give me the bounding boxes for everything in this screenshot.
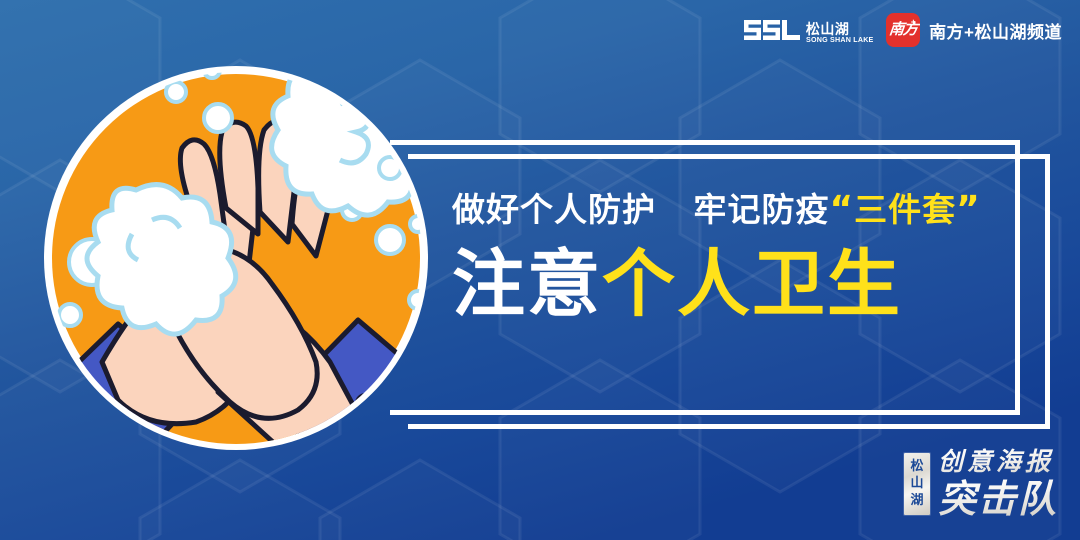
- nanfang-logo: 南方 + 南方+松山湖频道: [886, 13, 1062, 47]
- headline-1-part-a: 做好个人防护: [452, 190, 656, 229]
- stamp-vertical-label: 松 山 湖: [904, 453, 930, 515]
- ssl-logo-en: SONG SHAN LAKE: [806, 37, 874, 45]
- nanfang-app-icon: 南方 +: [886, 13, 920, 47]
- headline-1-gap: [656, 190, 693, 229]
- headline-1-highlight: 三件套: [854, 190, 956, 229]
- frame-outer-top: [408, 154, 1050, 159]
- stamp-words: 创意海报 突击队: [938, 448, 1058, 520]
- songshanlake-logo: 松山湖 SONG SHAN LAKE: [742, 14, 872, 46]
- ssl-monogram-icon: [742, 14, 800, 46]
- campaign-stamp: 松 山 湖 创意海报 突击队: [904, 448, 1058, 520]
- stamp-vertical-char-1: 山: [910, 475, 923, 492]
- headline-1-quote-close: ”: [956, 189, 981, 230]
- headline-line-1: 做好个人防护 牢记防疫“三件套”: [452, 190, 1022, 230]
- hand-washing-illustration: [40, 62, 432, 454]
- header-logo-bar: 松山湖 SONG SHAN LAKE 南方 + 南方+松山湖频道: [742, 13, 1062, 47]
- stamp-bottom-text: 突击队: [938, 478, 1058, 520]
- headline-1-part-b: 牢记防疫: [693, 190, 829, 229]
- nanfang-channel-label: 南方+松山湖频道: [929, 18, 1062, 43]
- frame-inner-top: [390, 140, 1020, 145]
- stamp-vertical-char-0: 松: [910, 458, 923, 475]
- left-cuff-button: [107, 413, 125, 431]
- poster-root: 松山湖 SONG SHAN LAKE 南方 + 南方+松山湖频道: [0, 0, 1080, 540]
- headline-2-highlight: 个人卫生: [602, 241, 902, 327]
- headline-block: 做好个人防护 牢记防疫“三件套” 注意个人卫生: [452, 190, 1022, 324]
- stamp-vertical-char-2: 湖: [910, 492, 923, 509]
- frame-outer-bottom: [408, 424, 1050, 429]
- nanfang-badge-plus: +: [911, 18, 916, 27]
- headline-1-quote-open: “: [829, 189, 854, 230]
- headline-2-plain: 注意: [452, 241, 602, 327]
- frame-outer-right: [1045, 154, 1050, 429]
- ssl-logo-cn: 松山湖: [806, 22, 850, 37]
- stamp-top-text: 创意海报: [938, 448, 1058, 476]
- headline-line-2: 注意个人卫生: [452, 244, 1022, 324]
- frame-inner-bottom: [390, 410, 1020, 415]
